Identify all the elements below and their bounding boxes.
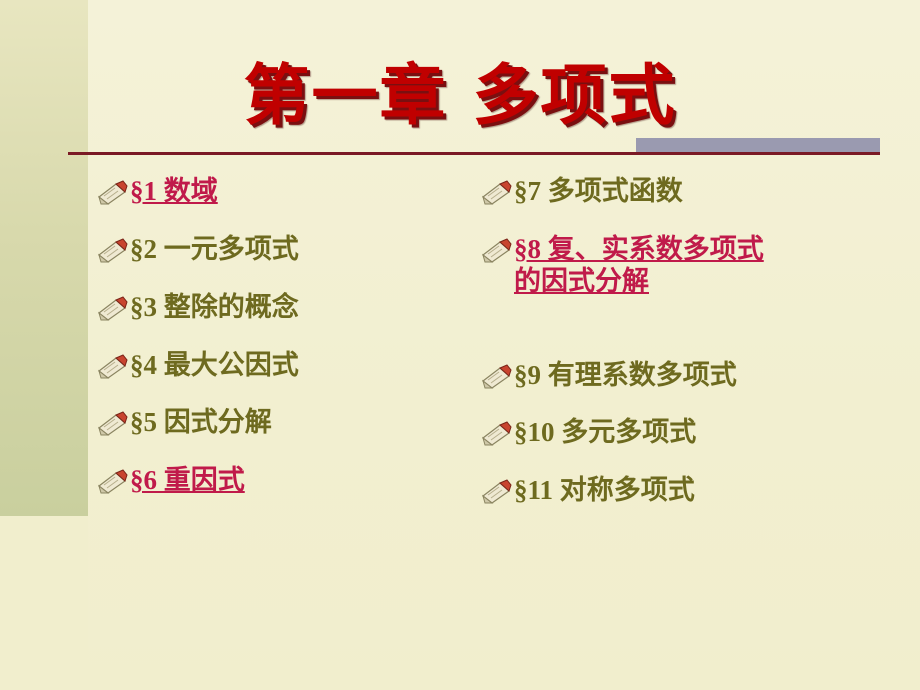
list-item-label: §4 最大公因式	[130, 350, 299, 382]
list-item-label: §11 对称多项式	[514, 475, 695, 507]
sidebar-band-lower	[0, 516, 88, 690]
right-column: §7 多项式函数 §8 复、实系数多项式 的因式分解 §9 有理系数多	[480, 176, 900, 525]
pencil-note-icon	[96, 354, 128, 380]
list-item-label: §2 一元多项式	[130, 234, 299, 266]
list-item-label: §10 多元多项式	[514, 417, 696, 449]
list-item-label: §1 数域	[130, 176, 218, 208]
list-item-label: §3 整除的概念	[130, 292, 299, 324]
list-item[interactable]: §5 因式分解	[96, 407, 476, 439]
page-title: 第一章 多项式	[0, 42, 920, 138]
pencil-note-icon	[96, 469, 128, 495]
list-item[interactable]: §7 多项式函数	[480, 176, 900, 208]
pencil-note-icon	[96, 180, 128, 206]
list-item[interactable]: §8 复、实系数多项式 的因式分解	[480, 234, 900, 298]
pencil-note-icon	[480, 238, 512, 264]
pencil-note-icon	[480, 421, 512, 447]
pencil-note-icon	[480, 364, 512, 390]
list-item-label: §7 多项式函数	[514, 176, 683, 208]
list-item[interactable]: §2 一元多项式	[96, 234, 476, 266]
list-item[interactable]: §9 有理系数多项式	[480, 360, 900, 392]
list-item[interactable]: §10 多元多项式	[480, 417, 900, 449]
pencil-note-icon	[480, 180, 512, 206]
list-item[interactable]: §1 数域	[96, 176, 476, 208]
pencil-note-icon	[96, 411, 128, 437]
list-item-label: §6 重因式	[130, 465, 245, 497]
list-item[interactable]: §11 对称多项式	[480, 475, 900, 507]
left-column: §1 数域 §2 一元多项式 §3 整除的概念	[96, 176, 476, 515]
title-rule	[68, 152, 880, 155]
list-item-label: §5 因式分解	[130, 407, 272, 439]
pencil-note-icon	[96, 238, 128, 264]
list-item-label: §8 复、实系数多项式 的因式分解	[514, 234, 764, 298]
pencil-note-icon	[96, 296, 128, 322]
list-item[interactable]: §6 重因式	[96, 465, 476, 497]
list-item-label: §9 有理系数多项式	[514, 360, 737, 392]
list-item[interactable]: §3 整除的概念	[96, 292, 476, 324]
pencil-note-icon	[480, 479, 512, 505]
title-rule-accent-block	[636, 138, 880, 152]
list-item[interactable]: §4 最大公因式	[96, 350, 476, 382]
